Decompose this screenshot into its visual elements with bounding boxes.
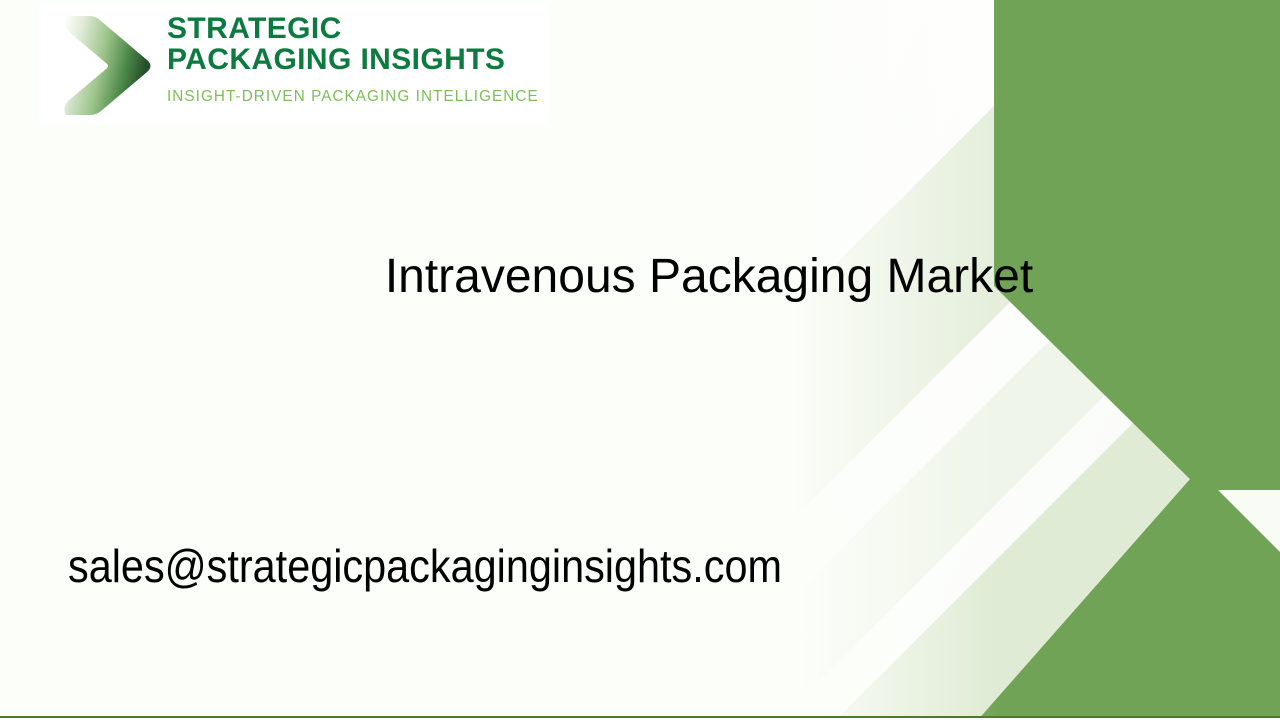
contact-email: sales@strategicpackaginginsights.com [68, 538, 782, 594]
presentation-slide: STRATEGIC PACKAGING INSIGHTS INSIGHT-DRI… [0, 0, 1280, 720]
logo-line-2: PACKAGING INSIGHTS [167, 44, 542, 75]
chevron-right-icon [56, 12, 162, 118]
logo-wordmark: STRATEGIC PACKAGING INSIGHTS INSIGHT-DRI… [167, 13, 542, 106]
company-logo: STRATEGIC PACKAGING INSIGHTS INSIGHT-DRI… [39, 3, 549, 125]
logo-line-1: STRATEGIC [167, 13, 542, 44]
slide-title: Intravenous Packaging Market [339, 252, 1079, 302]
logo-tagline: INSIGHT-DRIVEN PACKAGING INTELLIGENCE [167, 88, 542, 106]
